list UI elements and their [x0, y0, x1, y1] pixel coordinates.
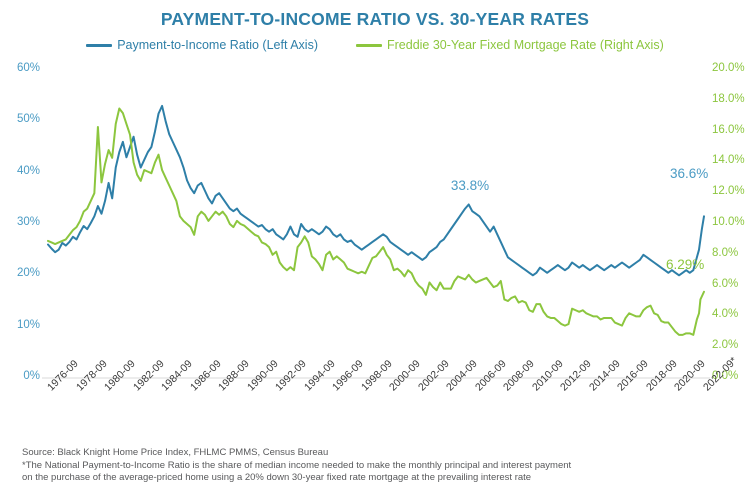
- chart-plot-area: [0, 0, 750, 491]
- y-right-tick: 8.0%: [712, 247, 750, 259]
- y-right-tick: 12.0%: [712, 185, 750, 197]
- y-right-tick: 16.0%: [712, 124, 750, 136]
- y-right-tick: 2.0%: [712, 339, 750, 351]
- footnote-definition-line1: *The National Payment-to-Income Ratio is…: [22, 460, 571, 473]
- y-right-tick: 6.0%: [712, 278, 750, 290]
- annotation-latest-rate: 6.29%: [666, 257, 704, 272]
- footnote-definition-line2: on the purchase of the average-priced ho…: [22, 472, 531, 485]
- y-left-tick: 40%: [0, 165, 40, 177]
- y-right-tick: 4.0%: [712, 308, 750, 320]
- y-left-tick: 20%: [0, 267, 40, 279]
- y-left-tick: 10%: [0, 319, 40, 331]
- y-right-tick: 20.0%: [712, 62, 750, 74]
- series-line-mortgage-rate: [48, 109, 704, 335]
- annotation-latest-pti: 36.6%: [670, 166, 708, 181]
- y-left-tick: 50%: [0, 113, 40, 125]
- y-right-tick: 10.0%: [712, 216, 750, 228]
- annotation-peak-2006: 33.8%: [451, 178, 489, 193]
- footnote-source: Source: Black Knight Home Price Index, F…: [22, 447, 328, 460]
- y-right-tick: 14.0%: [712, 154, 750, 166]
- y-left-tick: 60%: [0, 62, 40, 74]
- y-right-tick: 18.0%: [712, 93, 750, 105]
- y-left-tick: 30%: [0, 216, 40, 228]
- y-left-tick: 0%: [0, 370, 40, 382]
- chart-root: PAYMENT-TO-INCOME RATIO VS. 30-YEAR RATE…: [0, 0, 750, 491]
- series-line-payment-to-income: [48, 106, 704, 275]
